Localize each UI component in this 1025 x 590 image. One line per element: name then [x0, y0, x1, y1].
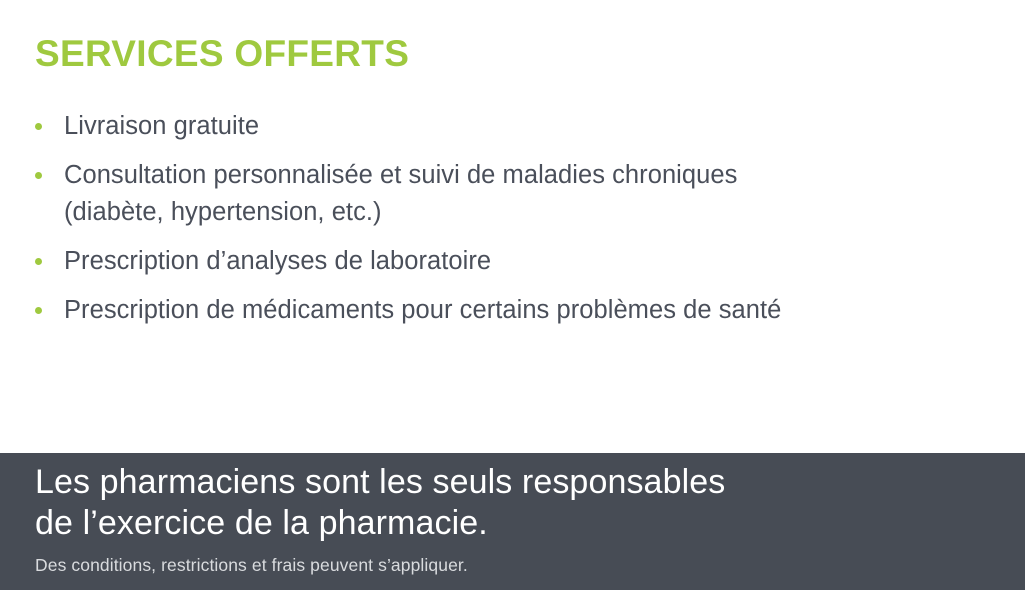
list-item-line1: Livraison gratuite — [64, 112, 259, 140]
list-item-label: Consultation personnalisée et suivi de m… — [64, 157, 998, 231]
footer-heading-line2: de l’exercice de la pharmacie. — [35, 503, 985, 544]
footer-heading-line1: Les pharmaciens sont les seuls responsab… — [35, 462, 985, 503]
list-item-label: Prescription d’analyses de laboratoire — [64, 243, 998, 280]
list-item-line1: Prescription d’analyses de laboratoire — [64, 247, 491, 275]
list-item-line2: (diabète, hypertension, etc.) — [64, 194, 998, 231]
footer-band: Les pharmaciens sont les seuls responsab… — [0, 453, 1025, 590]
bullet-dot-icon — [35, 123, 42, 130]
slide: SERVICES OFFERTS Livraison gratuite Cons… — [0, 0, 1025, 590]
list-item-label: Prescription de médicaments pour certain… — [64, 292, 998, 329]
bullet-dot-icon — [35, 307, 42, 314]
list-item-line1: Consultation personnalisée et suivi de m… — [64, 161, 737, 189]
list-item: Consultation personnalisée et suivi de m… — [33, 157, 998, 231]
services-bullet-list: Livraison gratuite Consultation personna… — [33, 108, 998, 329]
list-item-label: Livraison gratuite — [64, 108, 998, 145]
footer-disclaimer: Des conditions, restrictions et frais pe… — [35, 554, 468, 576]
list-item: Prescription de médicaments pour certain… — [33, 292, 998, 329]
page-title: SERVICES OFFERTS — [35, 31, 409, 77]
bullet-dot-icon — [35, 258, 42, 265]
footer-heading: Les pharmaciens sont les seuls responsab… — [35, 462, 985, 544]
bullet-dot-icon — [35, 172, 42, 179]
list-item: Livraison gratuite — [33, 108, 998, 145]
list-item: Prescription d’analyses de laboratoire — [33, 243, 998, 280]
list-item-line1: Prescription de médicaments pour certain… — [64, 296, 781, 324]
